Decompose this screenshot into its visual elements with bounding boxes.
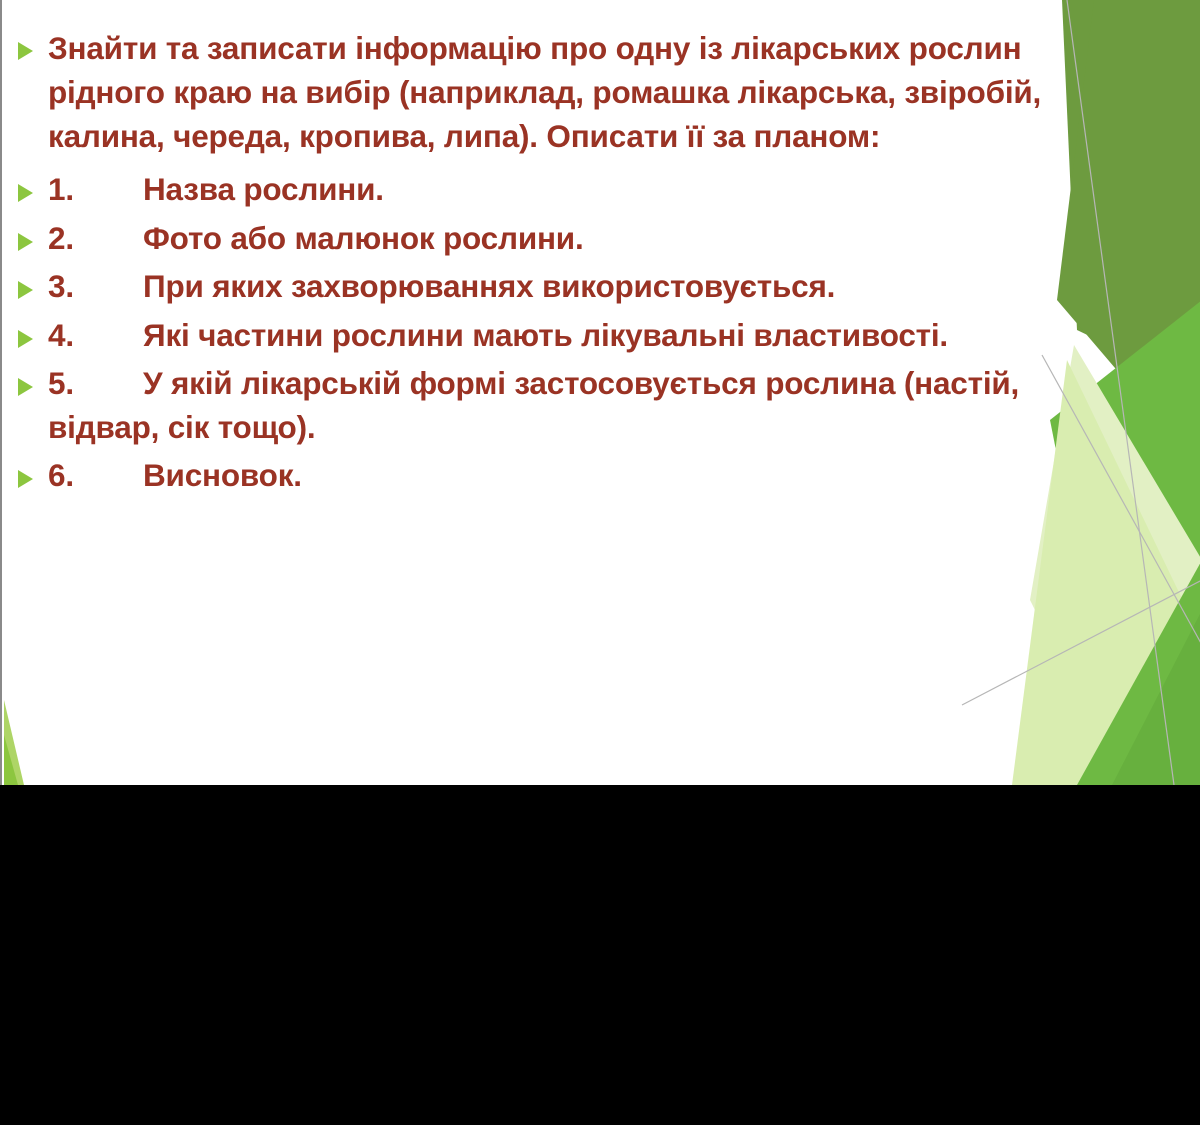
letterbox-bottom-band — [0, 785, 1200, 1125]
slide-content: Знайти та записати інформацію про одну і… — [2, 0, 1077, 503]
item-number-5: 5. — [48, 362, 143, 405]
bullet-item-1: 1.Назва рослини. — [2, 168, 1077, 211]
decor-left-green-sliver-2 — [4, 735, 18, 785]
decor-hairline-3 — [962, 580, 1200, 705]
decor-hairline-1 — [1067, 0, 1174, 785]
presentation-slide: Знайти та записати інформацію про одну і… — [0, 0, 1200, 785]
item-number-4: 4. — [48, 314, 143, 357]
item-number-6: 6. — [48, 454, 143, 497]
bullet-text-lead: Знайти та записати інформацію про одну і… — [48, 26, 1077, 158]
item-number-3: 3. — [48, 265, 143, 308]
bullet-text-6: Висновок. — [143, 457, 302, 493]
bullet-line-2: 2.Фото або малюнок рослини. — [48, 217, 1077, 260]
bullet-text-5: У якій лікарській формі застосовується р… — [48, 365, 1019, 444]
decor-bright-green-corner-2 — [1112, 610, 1200, 785]
triangle-bullet-icon — [2, 265, 48, 301]
bullet-text-2: Фото або малюнок рослини. — [143, 220, 584, 256]
triangle-bullet-icon — [2, 217, 48, 253]
bullet-text-4: Які частини рослини мають лікувальні вла… — [143, 317, 948, 353]
decor-left-green-sliver — [4, 700, 24, 785]
bullet-item-5: 5.У якій лікарській формі застосовується… — [2, 362, 1077, 449]
bullet-item-3: 3.При яких захворюваннях використовуєтьс… — [2, 265, 1077, 308]
decor-dark-green-wedge-2 — [1057, 0, 1200, 470]
bullet-item-6: 6.Висновок. — [2, 454, 1077, 497]
bullet-line-6: 6.Висновок. — [48, 454, 1077, 497]
bullet-item-4: 4.Які частини рослини мають лікувальні в… — [2, 314, 1077, 357]
bullet-line-5: 5.У якій лікарській формі застосовується… — [48, 362, 1077, 449]
triangle-bullet-icon — [2, 168, 48, 204]
triangle-bullet-icon — [2, 454, 48, 490]
bullet-item-2: 2.Фото або малюнок рослини. — [2, 217, 1077, 260]
item-number-1: 1. — [48, 168, 143, 211]
item-number-2: 2. — [48, 217, 143, 260]
decor-dark-green-wedge — [1062, 0, 1200, 390]
triangle-bullet-icon — [2, 26, 48, 62]
bullet-item-lead: Знайти та записати інформацію про одну і… — [2, 26, 1077, 158]
bullet-text-1: Назва рослини. — [143, 171, 384, 207]
triangle-bullet-icon — [2, 314, 48, 350]
bullet-line-1: 1.Назва рослини. — [48, 168, 1077, 211]
bullet-line-4: 4.Які частини рослини мають лікувальні в… — [48, 314, 1077, 357]
bullet-line-3: 3.При яких захворюваннях використовуєтьс… — [48, 265, 1077, 308]
decor-bright-green-corner — [1077, 560, 1200, 785]
screenshot-root: Знайти та записати інформацію про одну і… — [0, 0, 1200, 1125]
bullet-text-3: При яких захворюваннях використовується. — [143, 268, 835, 304]
triangle-bullet-icon — [2, 362, 48, 398]
